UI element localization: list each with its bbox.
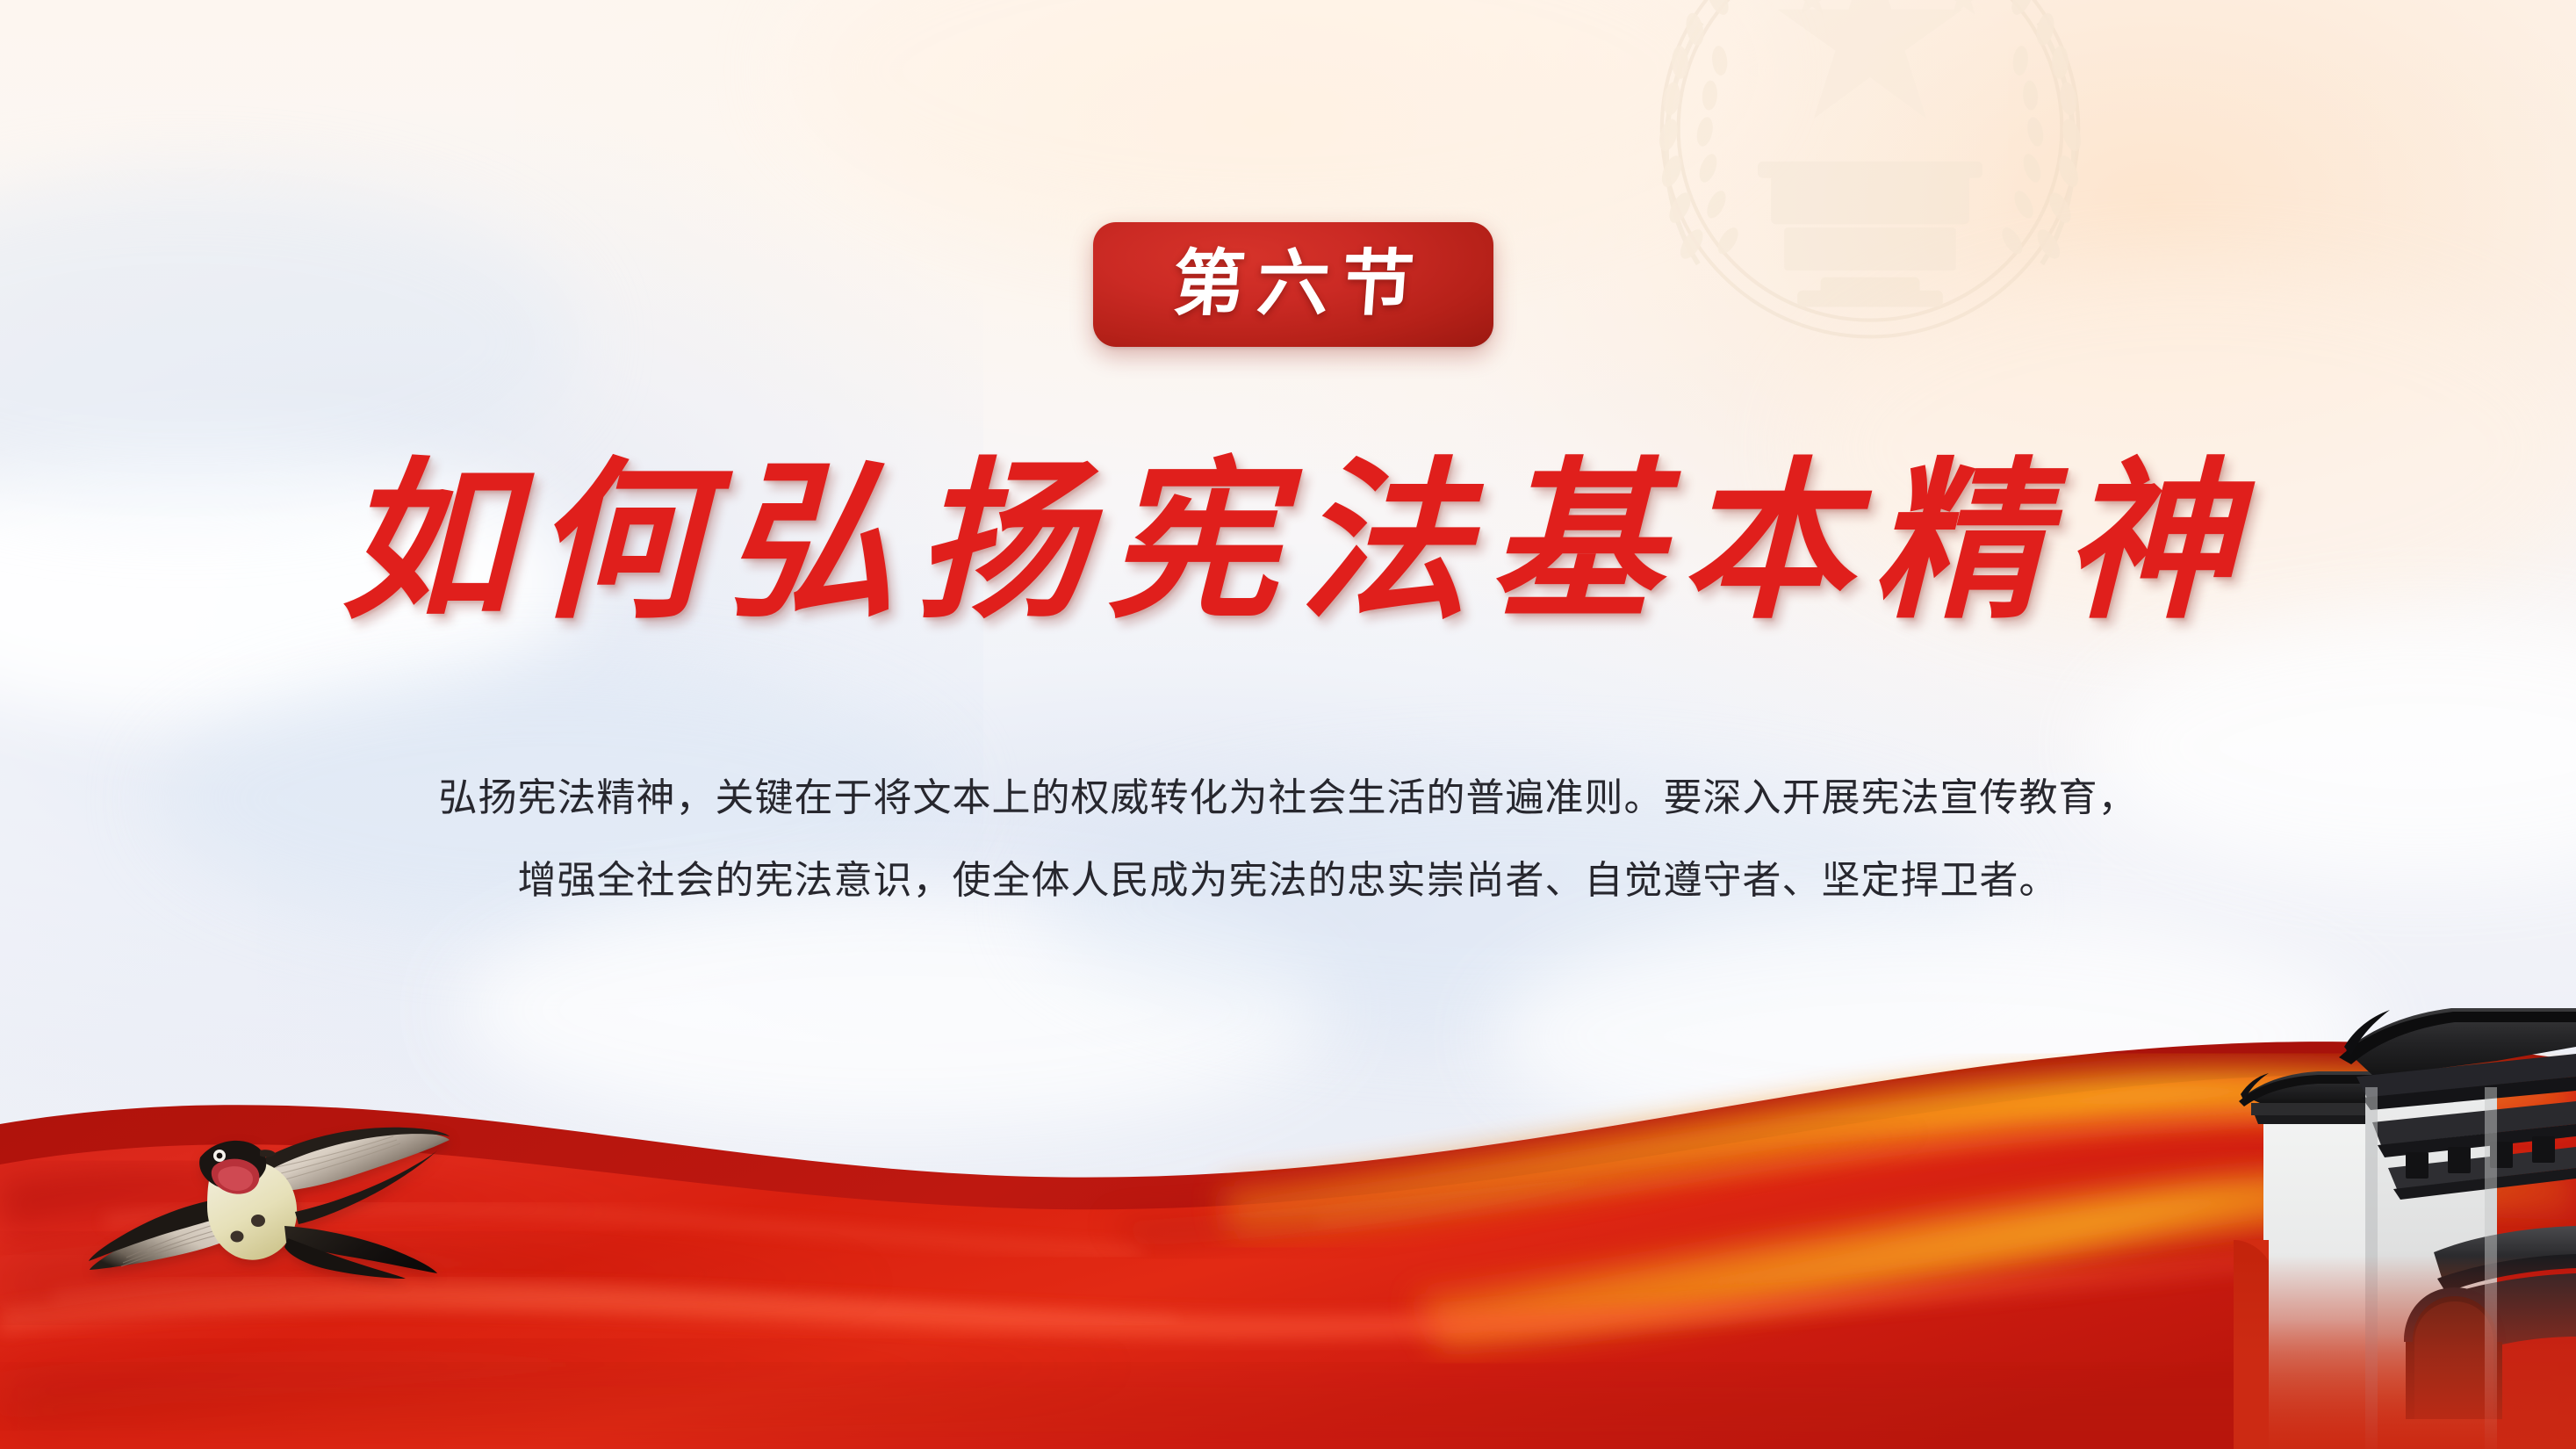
section-badge: 第六节 — [1093, 222, 1493, 347]
slide-canvas: 第六节 如何弘扬宪法基本精神 弘扬宪法精神，关键在于将文本上的权威转化为社会生活… — [0, 0, 2576, 1449]
subtitle-line: 弘扬宪法精神，关键在于将文本上的权威转化为社会生活的普遍准则。要深入开展宪法宣传… — [252, 757, 2324, 840]
subtitle-paragraph: 弘扬宪法精神，关键在于将文本上的权威转化为社会生活的普遍准则。要深入开展宪法宣传… — [252, 757, 2324, 922]
section-badge-label: 第六节 — [1158, 249, 1428, 321]
subtitle-line: 增强全社会的宪法意识，使全体人民成为宪法的忠实崇尚者、自觉遵守者、坚定捍卫者。 — [252, 840, 2324, 922]
national-emblem-icon — [1528, 0, 2213, 413]
hui-architecture-icon — [2234, 992, 2576, 1449]
swallow-icon — [88, 1107, 457, 1335]
page-title: 如何弘扬宪法基本精神 — [0, 439, 2576, 649]
